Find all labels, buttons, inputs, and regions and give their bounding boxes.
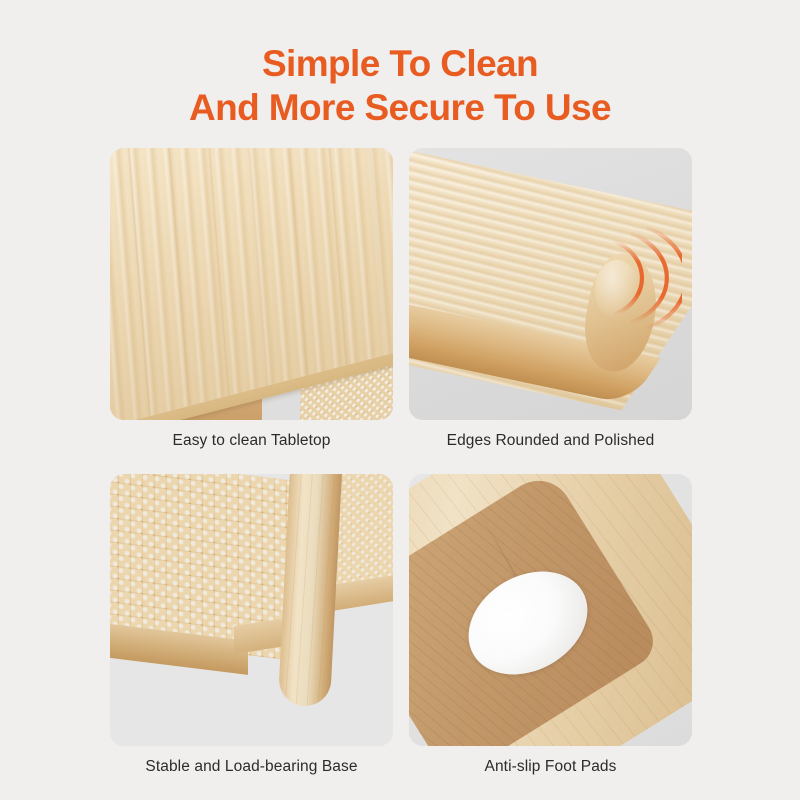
orange-arc-highlight-icon <box>602 222 682 332</box>
feature-caption: Stable and Load-bearing Base <box>110 746 393 788</box>
feature-card-edges-rounded-and-polished: Edges Rounded and Polished <box>409 148 692 462</box>
feature-card-stable-and-load-bearing-base: Stable and Load-bearing Base <box>110 474 393 788</box>
headline-line-1: Simple To Clean <box>0 42 800 86</box>
feature-caption: Edges Rounded and Polished <box>409 420 692 462</box>
headline: Simple To Clean And More Secure To Use <box>0 42 800 130</box>
feature-grid: Easy to clean Tabletop <box>110 148 692 788</box>
feature-card-anti-slip-foot-pads: Anti-slip Foot Pads <box>409 474 692 788</box>
feature-photo-tabletop <box>110 148 393 420</box>
feature-photo-foot-pad <box>409 474 692 746</box>
feature-caption: Anti-slip Foot Pads <box>409 746 692 788</box>
feature-caption: Easy to clean Tabletop <box>110 420 393 462</box>
feature-photo-rattan-base <box>110 474 393 746</box>
headline-line-2: And More Secure To Use <box>0 86 800 130</box>
feature-card-easy-to-clean-tabletop: Easy to clean Tabletop <box>110 148 393 462</box>
feature-photo-rounded-edge <box>409 148 692 420</box>
product-feature-infographic: Simple To Clean And More Secure To Use E… <box>0 0 800 800</box>
